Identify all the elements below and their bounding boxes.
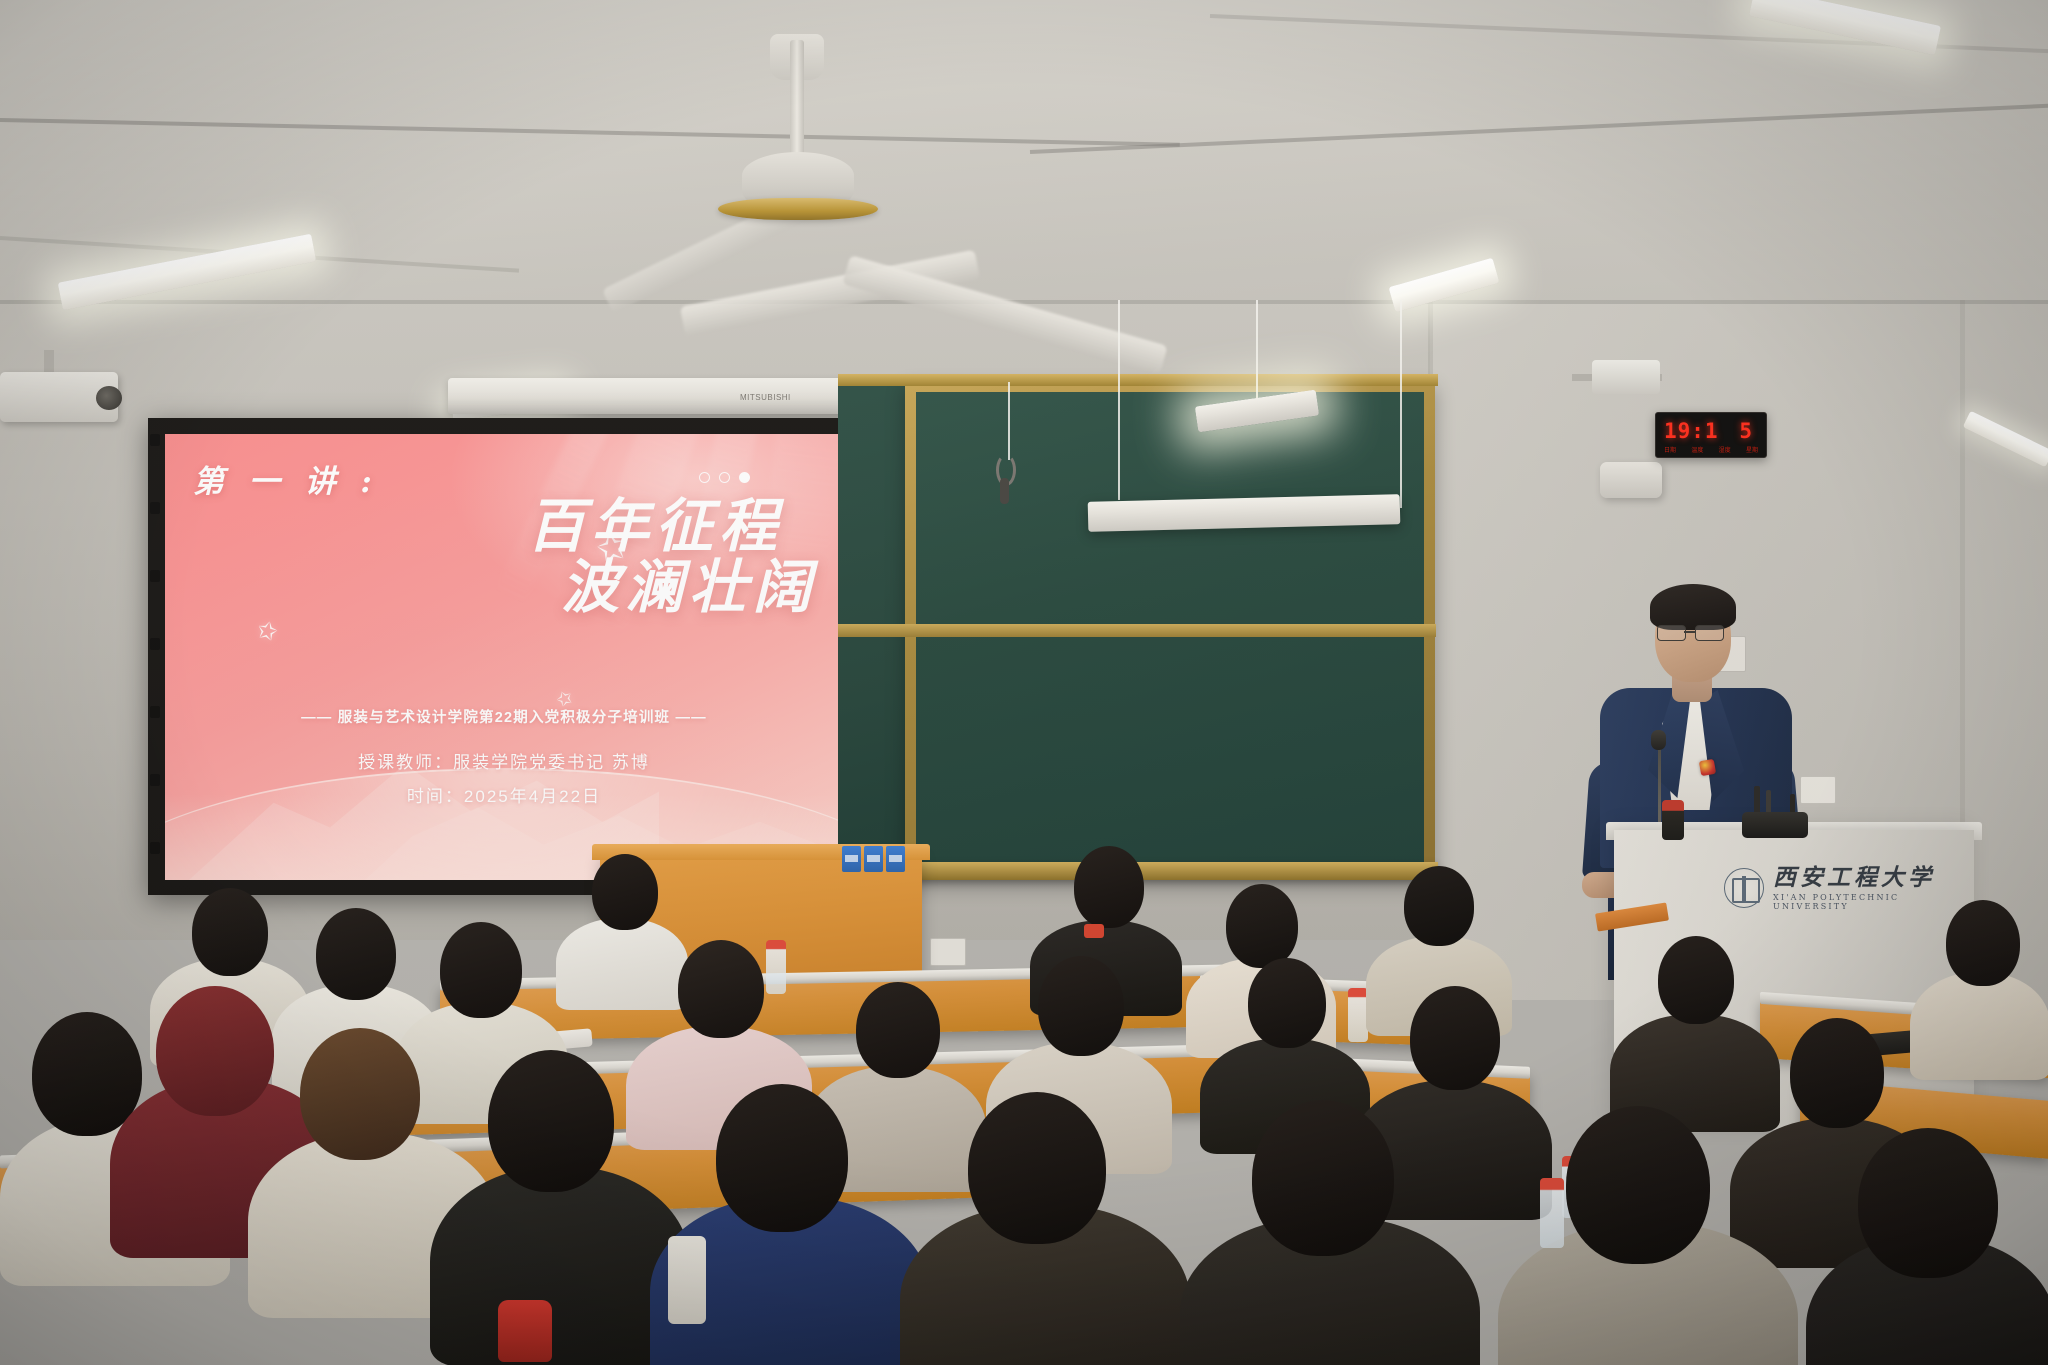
blackboard-middle-rail	[838, 624, 1436, 637]
slide-subtitle: —— 服装与艺术设计学院第22期入党积极分子培训班 ——	[165, 706, 843, 727]
wall-ceiling-joint	[0, 300, 2048, 304]
wall-speaker	[1600, 462, 1662, 498]
lamp-wire	[1400, 300, 1402, 508]
slide-meta: 授课教师：服装学院党委书记 苏博 时间：2025年4月22日	[165, 746, 843, 814]
lamp-wire	[1118, 300, 1120, 500]
slide-title-line1: 百年征程	[527, 492, 783, 560]
university-seal-icon	[1724, 868, 1764, 908]
slide-instructor-line: 授课教师：服装学院党委书记 苏博	[165, 746, 843, 780]
water-bottle[interactable]	[1662, 800, 1684, 840]
paper-cup[interactable]	[668, 1236, 706, 1324]
university-name-cn: 西安工程大学	[1773, 865, 1954, 890]
projector-lens-icon	[96, 386, 122, 410]
slide-kicker-text: 第 一 讲 :	[193, 456, 379, 501]
party-emblem-pin-icon	[1699, 759, 1716, 776]
microphone-base[interactable]	[1742, 812, 1808, 838]
clock-label-humidity: 湿度	[1719, 445, 1731, 454]
slide-dot-group	[699, 472, 750, 483]
hook-wire	[1008, 382, 1010, 460]
wall-outlet[interactable]	[930, 938, 966, 966]
clock-label-weekday: 星期	[1746, 445, 1758, 454]
slide-title-line2: 波澜壮阔	[527, 557, 817, 618]
glasses-icon	[1657, 625, 1729, 640]
chalk-box[interactable]	[886, 846, 905, 872]
slide-dot-filled	[739, 472, 750, 483]
digital-wall-clock: 19:1 5 日期 温度 湿度 星期	[1655, 412, 1767, 458]
blackboard-top-track	[838, 374, 1438, 386]
clock-seconds-display: 5	[1739, 419, 1752, 443]
red-thermos[interactable]	[498, 1300, 552, 1362]
chalk-box[interactable]	[864, 846, 883, 872]
hook-weight	[1000, 478, 1009, 504]
clock-time-display: 19:1	[1664, 419, 1719, 443]
slide-date-line: 时间：2025年4月22日	[165, 780, 843, 814]
ceiling-fan-rod	[790, 40, 804, 160]
speaker-hair	[1650, 584, 1736, 630]
clock-label-date: 日期	[1664, 445, 1676, 454]
podium-university-logo: 西安工程大学 XI'AN POLYTECHNIC UNIVERSITY	[1724, 860, 1954, 916]
screen-clip-strip	[150, 430, 160, 885]
chalk-box[interactable]	[842, 846, 861, 872]
wall-outlet[interactable]	[1800, 776, 1836, 804]
presentation-slide[interactable]: ✩ ✩ ✩ 第 一 讲 : 百年征程 波澜壮阔 —— 服装与艺术设计学院第22期…	[165, 434, 843, 880]
water-bottle[interactable]	[1348, 988, 1368, 1042]
lamp-wire	[1256, 300, 1258, 406]
microphone-stem	[1658, 742, 1661, 834]
ceiling	[0, 0, 2048, 330]
slide-dot	[719, 472, 730, 483]
microphone-icon	[1651, 730, 1666, 750]
water-bottle[interactable]	[1540, 1178, 1564, 1248]
clock-label-temp: 温度	[1691, 445, 1703, 454]
water-bottle[interactable]	[766, 940, 786, 994]
wall-mounted-unit	[1592, 360, 1660, 394]
slide-title: 百年征程 波澜壮阔	[527, 496, 783, 619]
clock-secondary-labels: 日期 温度 湿度 星期	[1664, 445, 1758, 454]
slide-dot	[699, 472, 710, 483]
university-name-en: XI'AN POLYTECHNIC UNIVERSITY	[1773, 893, 1954, 911]
lecture-hall-photo: MITSUBISHI ✩ ✩ ✩ 第 一 讲 :	[0, 0, 2048, 1365]
ceiling-fan-trim	[718, 198, 878, 220]
dove-icon: ✩	[254, 618, 279, 646]
screen-brand-label: MITSUBISHI	[740, 393, 791, 402]
hair-clip	[1084, 924, 1104, 938]
